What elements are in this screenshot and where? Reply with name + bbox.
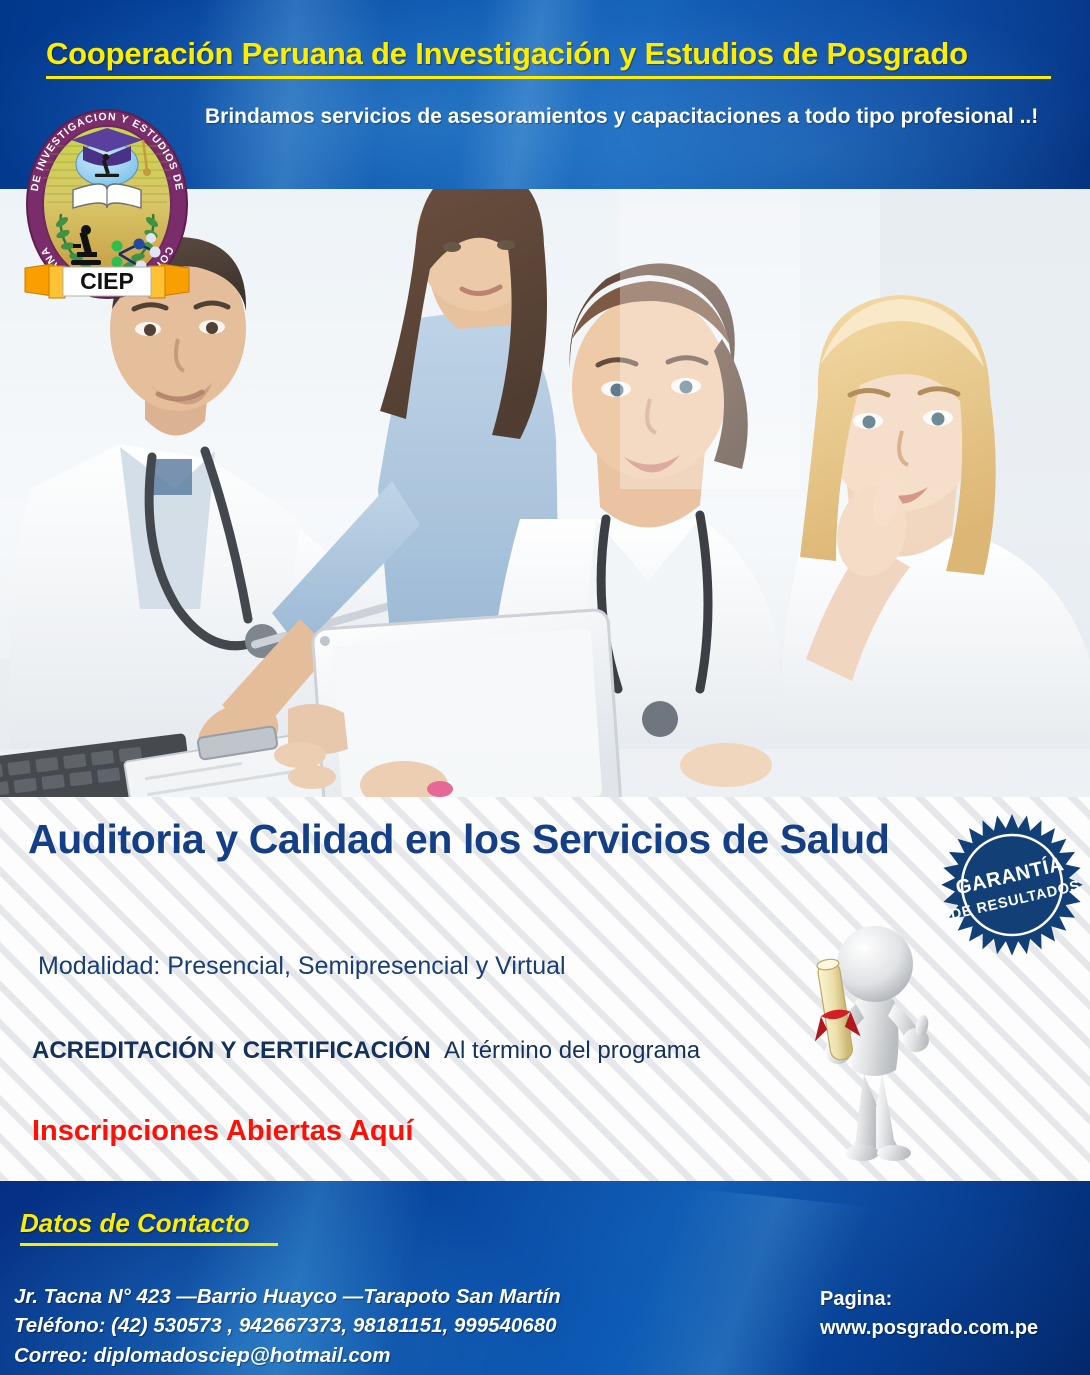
website-url[interactable]: www.posgrado.com.pe	[820, 1314, 1085, 1343]
website-block: Pagina: www.posgrado.com.pe	[820, 1285, 1085, 1343]
contact-address: Jr. Tacna N° 423 —Barrio Huayco —Tarapot…	[14, 1282, 704, 1311]
contact-details: Jr. Tacna N° 423 —Barrio Huayco —Tarapot…	[14, 1282, 704, 1370]
course-title: Auditoria y Calidad en los Servicios de …	[28, 816, 908, 864]
organization-title: Cooperación Peruana de Investigación y E…	[46, 36, 1056, 72]
course-accreditation: ACREDITACIÓN Y CERTIFICACIÓN Al término …	[32, 1035, 792, 1066]
website-label: Pagina:	[820, 1285, 1085, 1314]
guarantee-seal: GARANTÍA DE RESULTADOS	[938, 812, 1086, 960]
contact-phone: Teléfono: (42) 530573 , 942667373, 98181…	[14, 1311, 704, 1340]
header-sheen-c	[491, 0, 1090, 189]
organization-title-underline	[46, 76, 1051, 79]
accreditation-detail: Al término del programa	[444, 1037, 700, 1064]
mascot-with-diploma-icon	[800, 902, 960, 1167]
ciep-logo: DE INVESTIGACION Y ESTUDIOS DE CORPORACI…	[13, 86, 201, 311]
header-tagline: Brindamos servicios de asesoramientos y …	[205, 104, 1065, 130]
course-modality: Modalidad: Presencial, Semipresencial y …	[38, 952, 838, 981]
footer-contact-banner: Datos de Contacto Jr. Tacna N° 423 —Barr…	[0, 1181, 1090, 1375]
flyer-page: Cooperación Peruana de Investigación y E…	[0, 0, 1090, 1375]
contact-heading: Datos de Contacto	[20, 1208, 250, 1239]
accreditation-label: ACREDITACIÓN Y CERTIFICACIÓN	[32, 1037, 431, 1064]
footer-sheen-c	[654, 1181, 1090, 1375]
logo-acronym: CIEP	[80, 268, 134, 294]
contact-heading-underline	[20, 1243, 278, 1246]
enrollment-cta[interactable]: Inscripciones Abiertas Aquí	[32, 1115, 732, 1148]
contact-email[interactable]: Correo: diplomadosciep@hotmail.com	[14, 1341, 704, 1370]
course-panel: Auditoria y Calidad en los Servicios de …	[0, 797, 1090, 1181]
